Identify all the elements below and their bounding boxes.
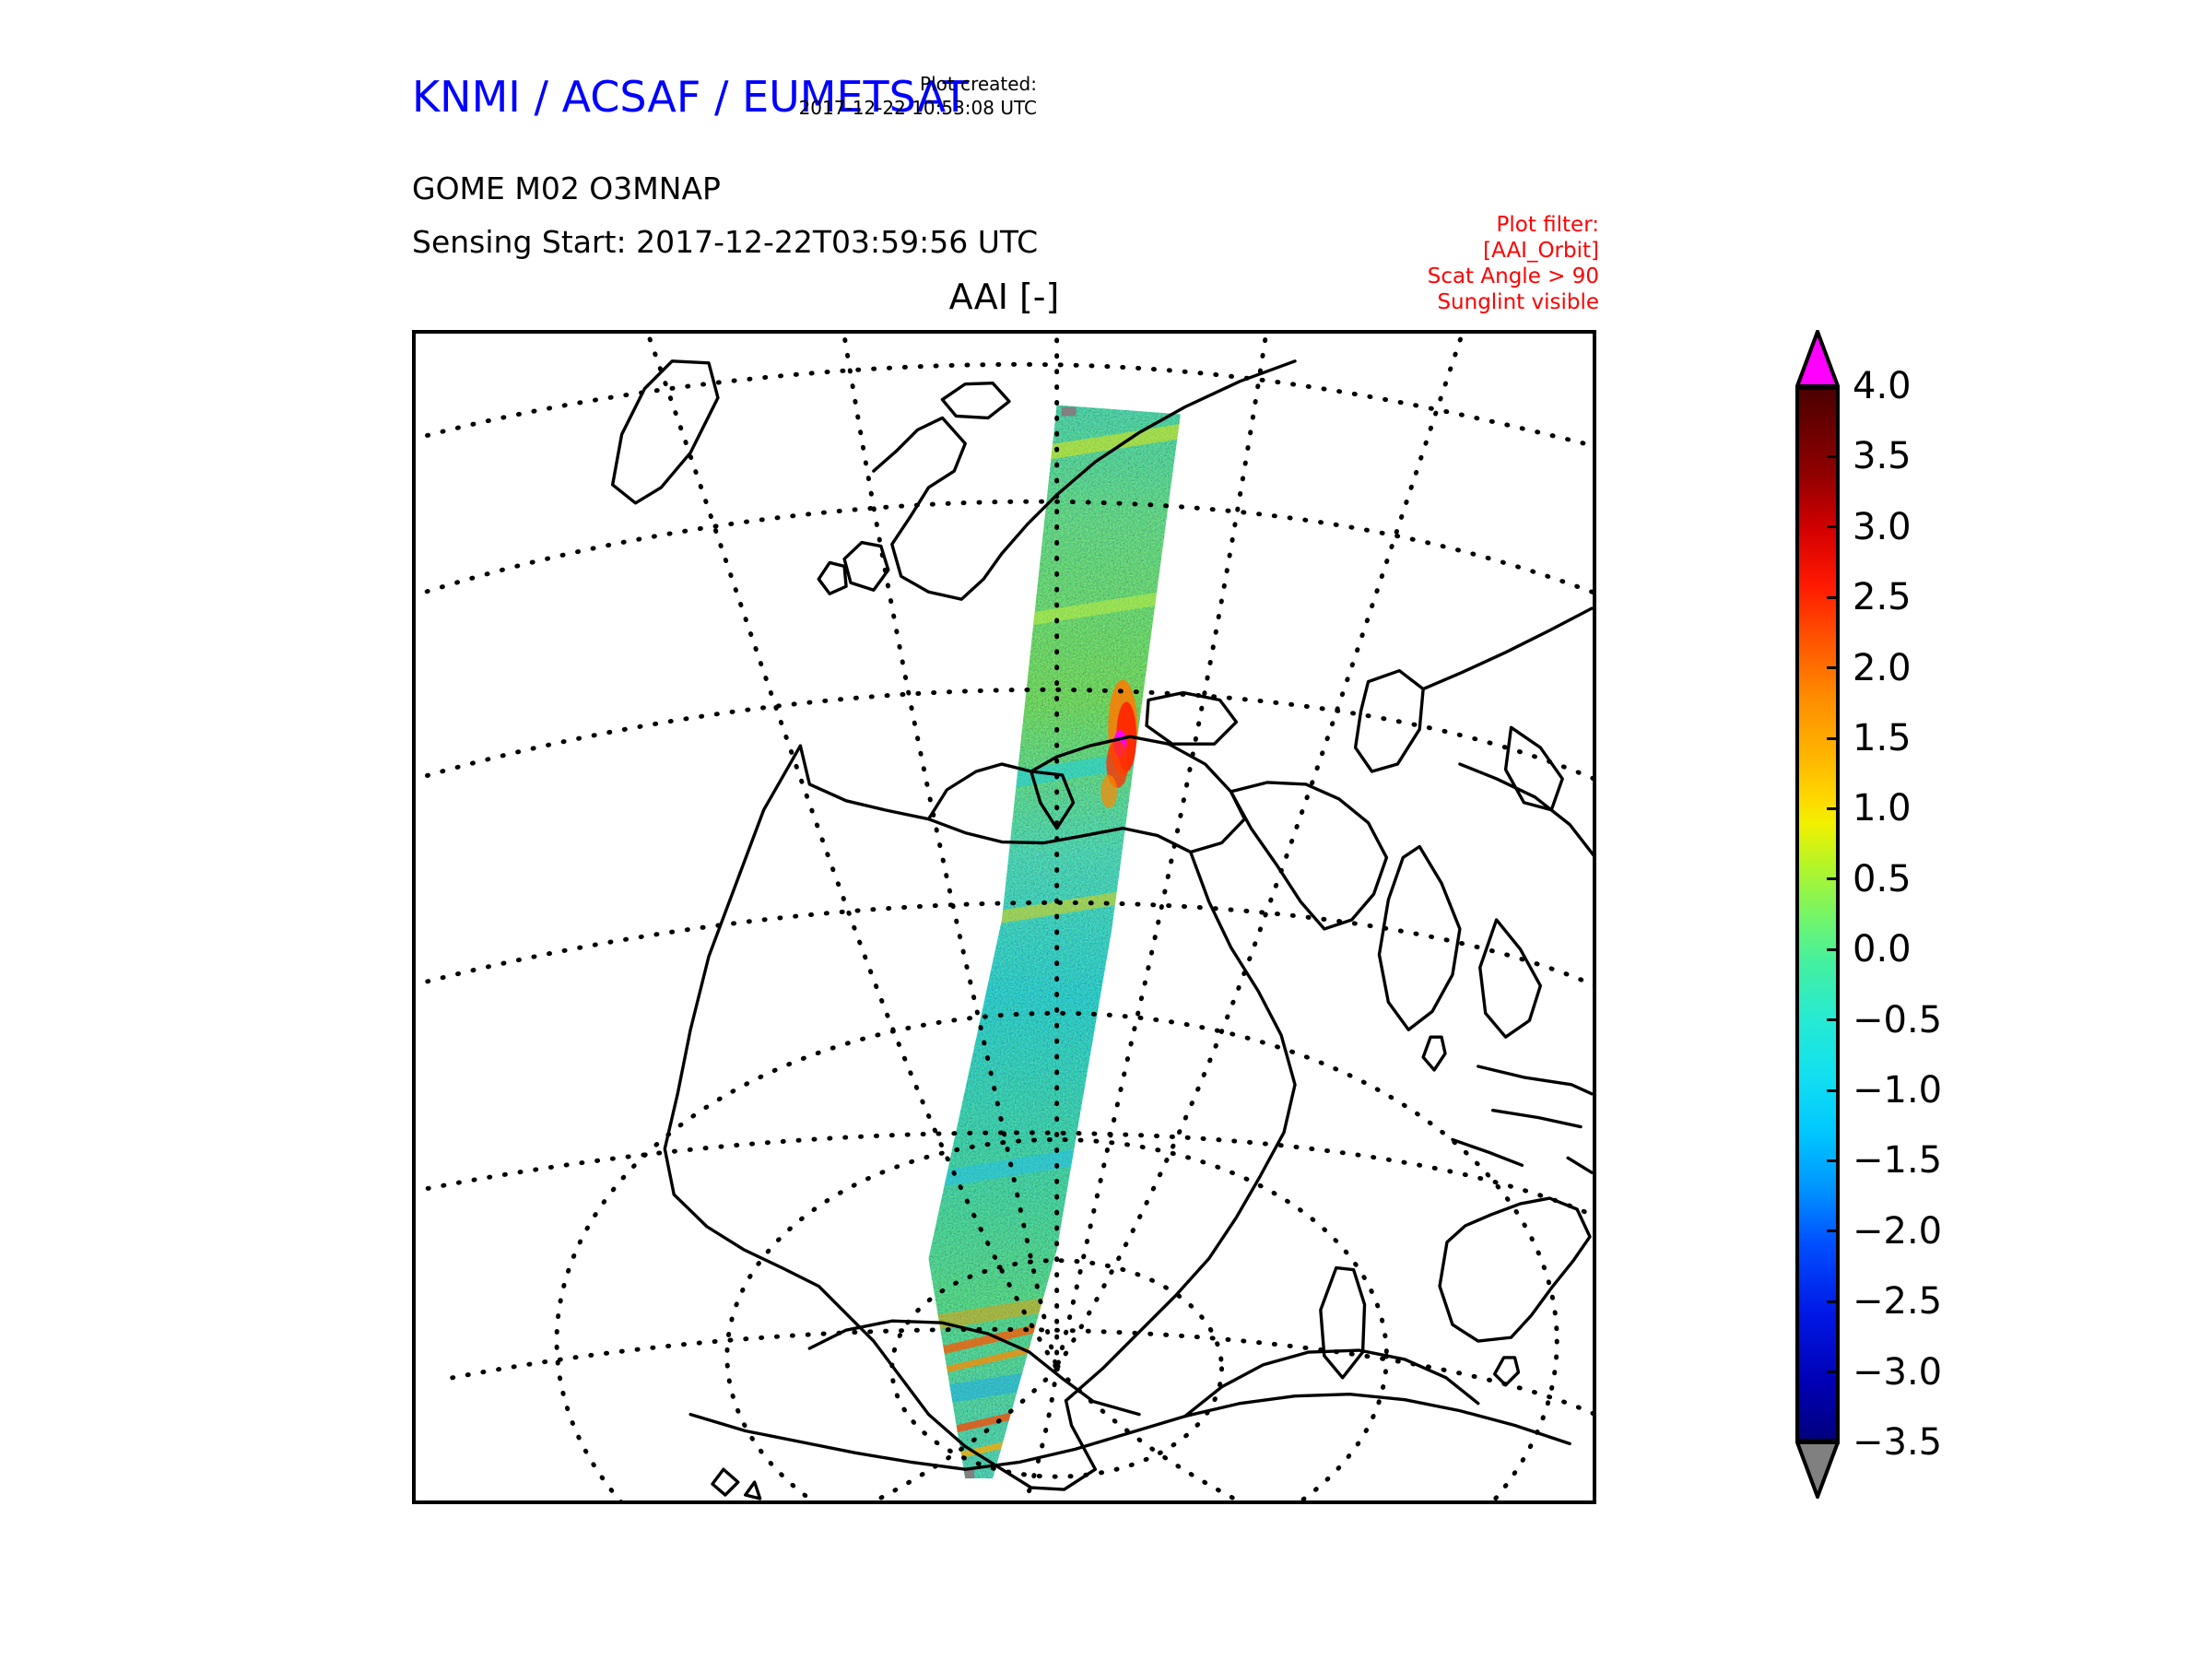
colorbar-under-triangle xyxy=(1795,1441,1840,1499)
colorbar-tick-mark xyxy=(1827,948,1840,951)
colorbar-tick-mark xyxy=(1827,385,1840,388)
colorbar-tick-mark xyxy=(1827,807,1840,810)
colorbar-gradient xyxy=(1795,386,1840,1442)
plot-created-label: Plot created: xyxy=(799,72,1037,96)
colorbar-tick-mark xyxy=(1827,1300,1840,1303)
product-name: GOME M02 O3MNAP xyxy=(412,171,721,206)
sensing-start: Sensing Start: 2017-12-22T03:59:56 UTC xyxy=(412,224,1038,260)
colorbar-tick-label: 4.0 xyxy=(1853,368,1912,405)
colorbar-tick-label: 2.0 xyxy=(1853,650,1912,687)
colorbar-tick-label: 1.5 xyxy=(1853,720,1912,757)
colorbar-tick-mark xyxy=(1827,1018,1840,1021)
map-plot-area xyxy=(412,330,1596,1504)
colorbar-tick-mark xyxy=(1827,1371,1840,1373)
colorbar: 4.03.53.02.52.01.51.00.50.0−0.5−1.0−1.5−… xyxy=(1792,323,2068,1512)
plot-created-value: 2017-12-22 10:53:08 UTC xyxy=(799,96,1037,120)
colorbar-tick-label: −3.5 xyxy=(1853,1424,1942,1461)
colorbar-tick-label: 3.5 xyxy=(1853,438,1912,475)
plot-created-block: Plot created: 2017-12-22 10:53:08 UTC xyxy=(799,72,1037,120)
colorbar-tick-label: 1.0 xyxy=(1853,790,1912,827)
colorbar-tick-label: 3.0 xyxy=(1853,509,1912,546)
colorbar-tick-label: 0.0 xyxy=(1853,931,1912,968)
map-canvas xyxy=(416,334,1593,1500)
colorbar-tick-label: −1.0 xyxy=(1853,1072,1942,1109)
colorbar-tick-mark xyxy=(1827,877,1840,880)
colorbar-over-range-arrow xyxy=(1795,330,1840,388)
colorbar-tick-label: −2.5 xyxy=(1853,1283,1942,1320)
colorbar-tick-label: −3.0 xyxy=(1853,1354,1942,1391)
colorbar-tick-label: −0.5 xyxy=(1853,1002,1942,1039)
colorbar-tick-mark xyxy=(1827,1159,1840,1162)
colorbar-tick-mark xyxy=(1827,455,1840,458)
colorbar-over-triangle xyxy=(1795,330,1840,388)
plot-filter-line-1: [AAI_Orbit] xyxy=(1428,238,1599,264)
chart-title: AAI [-] xyxy=(412,276,1596,317)
colorbar-tick-label: −2.0 xyxy=(1853,1213,1942,1250)
colorbar-tick-mark xyxy=(1827,1089,1840,1092)
colorbar-tick-mark xyxy=(1827,525,1840,528)
colorbar-tick-mark xyxy=(1827,737,1840,740)
colorbar-tick-mark xyxy=(1827,1230,1840,1232)
plot-filter-line-0: Plot filter: xyxy=(1428,212,1599,238)
colorbar-under-range-arrow xyxy=(1795,1441,1840,1499)
colorbar-tick-mark xyxy=(1827,666,1840,669)
colorbar-tick-label: 2.5 xyxy=(1853,579,1912,616)
colorbar-tick-mark xyxy=(1827,596,1840,599)
colorbar-tick-label: −1.5 xyxy=(1853,1142,1942,1179)
colorbar-tick-label: 0.5 xyxy=(1853,861,1912,898)
colorbar-tick-mark xyxy=(1827,1441,1840,1444)
